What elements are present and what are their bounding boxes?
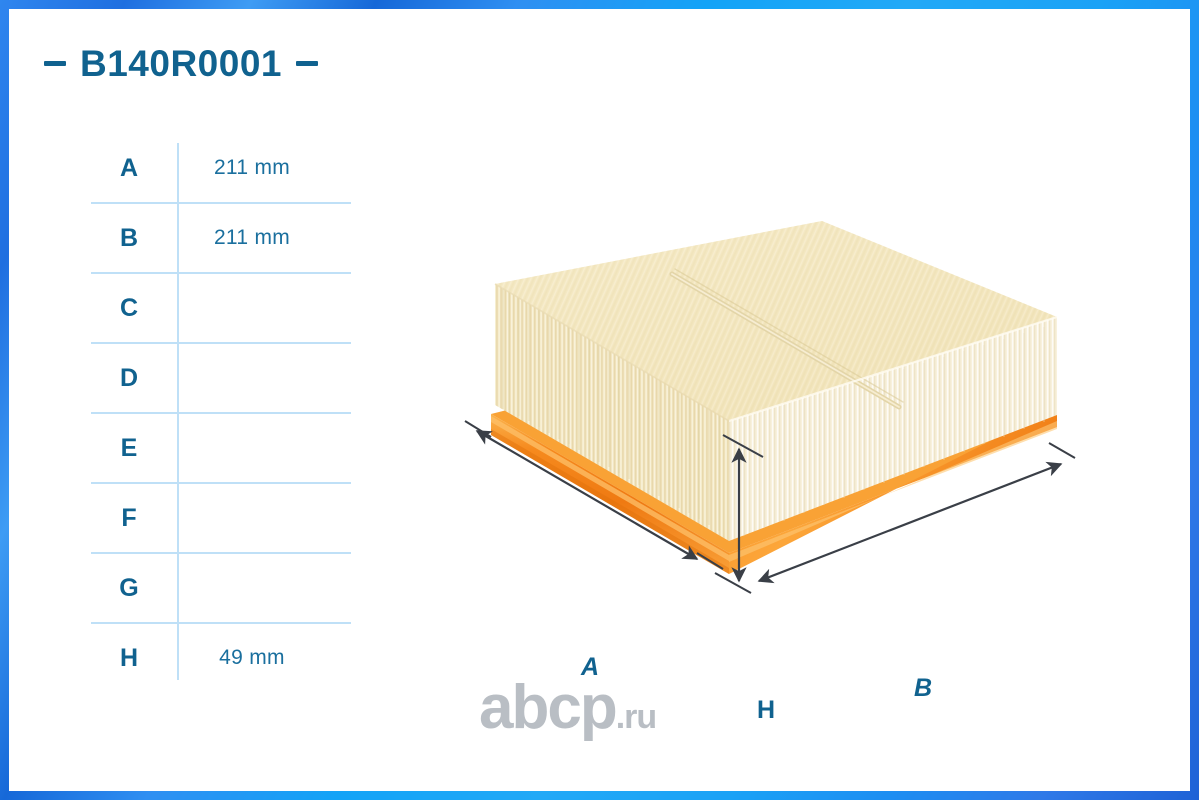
table-row: F [91, 484, 351, 554]
dimension-key: E [91, 434, 167, 463]
dimension-key: C [91, 294, 167, 323]
dimensions-table: A 211 mm B 211 mm C D E F [91, 134, 351, 692]
table-row: A 211 mm [91, 134, 351, 204]
page-frame: B140R0001 A 211 mm B 211 mm C D [0, 0, 1199, 800]
table-row: E [91, 414, 351, 484]
watermark-tld: .ru [616, 700, 656, 734]
dimension-value: 211 mm [167, 156, 351, 180]
title-dash-right-icon [296, 61, 318, 66]
product-illustration: A B H [429, 209, 1129, 629]
table-row: D [91, 344, 351, 414]
page-canvas: B140R0001 A 211 mm B 211 mm C D [9, 9, 1190, 791]
page-title: B140R0001 [44, 45, 318, 82]
table-row: G [91, 554, 351, 624]
dimension-label-b: B [914, 674, 932, 703]
dimension-value: 49 mm [167, 646, 351, 670]
dimension-key: H [91, 644, 167, 673]
part-number-text: B140R0001 [80, 45, 282, 82]
watermark-brand: abcp [479, 677, 616, 739]
table-row: C [91, 274, 351, 344]
table-row: H 49 mm [91, 624, 351, 692]
dimension-key: A [91, 154, 167, 183]
watermark: abcp .ru [479, 677, 656, 739]
dimension-key: D [91, 364, 167, 393]
dimension-key: B [91, 224, 167, 253]
filter-svg [429, 209, 1129, 629]
dimension-key: G [91, 574, 167, 603]
dimension-label-h: H [757, 696, 775, 725]
dimension-key: F [91, 504, 167, 533]
dimension-value: 211 mm [167, 226, 351, 250]
title-dash-left-icon [44, 61, 66, 66]
table-row: B 211 mm [91, 204, 351, 274]
